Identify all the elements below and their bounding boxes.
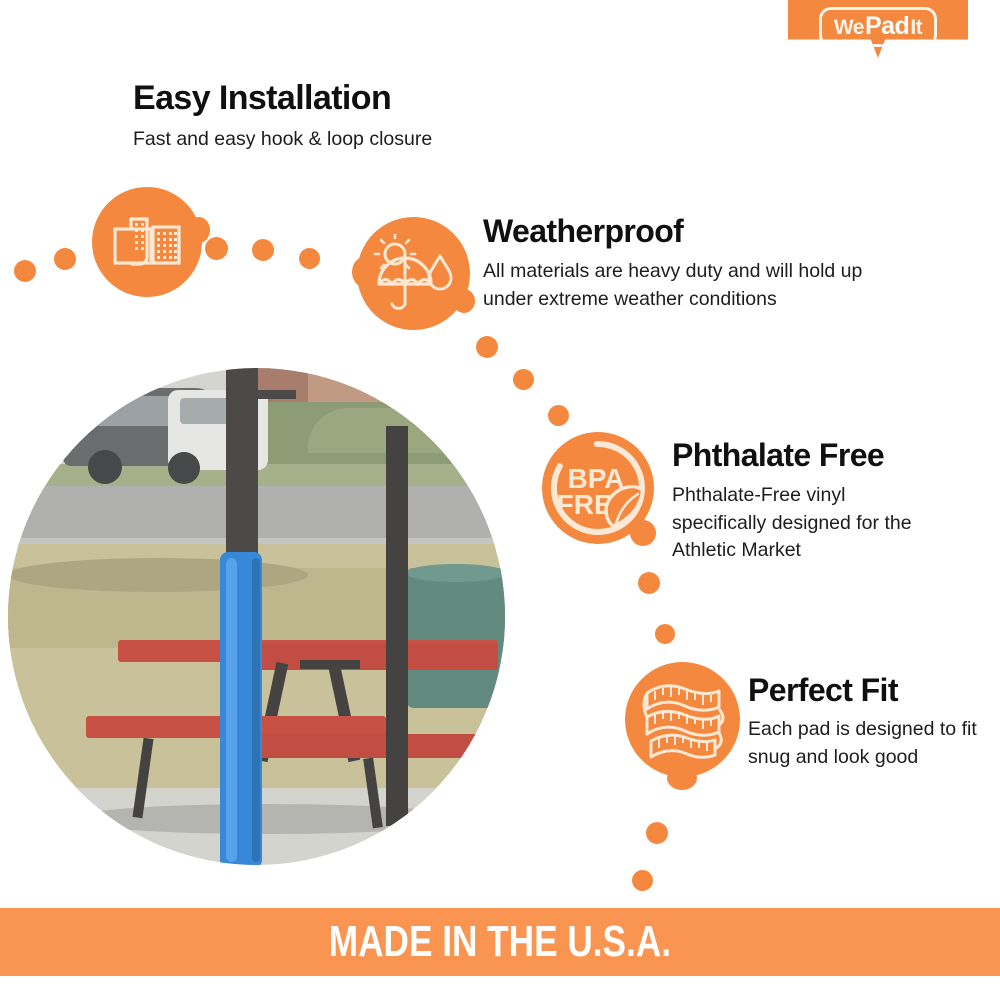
feature-icon-bubble-perfect-fit [625, 662, 740, 777]
bubble-blob [630, 520, 656, 546]
photo-overlay [8, 368, 505, 865]
made-in-usa-text: MADE IN THE U.S.A. [329, 917, 671, 967]
trail-dot [205, 237, 228, 260]
bubble-blob [667, 766, 697, 790]
feature-title-easy-installation: Easy Installation [133, 79, 391, 118]
bubble-blob [352, 257, 376, 287]
made-in-usa-banner: MADE IN THE U.S.A. [0, 908, 1000, 976]
feature-title-weatherproof: Weatherproof [483, 213, 683, 250]
feature-description-weatherproof: All materials are heavy duty and will ho… [483, 258, 903, 313]
trail-dot [476, 336, 498, 358]
trail-dot [54, 248, 76, 270]
feature-description-phthalate-free: Phthalate-Free vinyl specifically design… [672, 482, 942, 565]
bubble-blob [453, 289, 475, 313]
trail-dot [632, 870, 653, 891]
feature-title-phthalate-free: Phthalate Free [672, 437, 884, 474]
product-photo [8, 368, 505, 865]
measuring-tape-icon [639, 677, 727, 763]
brand-logo: We Pad It [788, 0, 968, 58]
logo-text-we: We [834, 16, 864, 40]
logo-text-pad: Pad [865, 12, 909, 41]
logo-wordmark: We Pad It [819, 7, 937, 47]
trail-dot [299, 248, 320, 269]
feature-title-perfect-fit: Perfect Fit [748, 672, 898, 709]
trail-dot [655, 624, 675, 644]
sun-umbrella-raindrop-icon [373, 234, 455, 314]
trail-dot [513, 369, 534, 390]
bubble-blob [188, 217, 210, 243]
hook-and-loop-icon [113, 213, 181, 271]
feature-icon-bubble-phthalate-free: BPA FREE [542, 432, 654, 544]
trail-dot [646, 822, 668, 844]
trail-dot [548, 405, 569, 426]
infographic-page: We Pad It Easy Installation Fast and eas… [0, 0, 1000, 987]
feature-icon-bubble-weatherproof [357, 217, 470, 330]
logo-text-it: It [910, 16, 922, 40]
trail-dot [252, 239, 274, 261]
feature-description-perfect-fit: Each pad is designed to fit snug and loo… [748, 716, 978, 771]
trail-dot [638, 572, 660, 594]
trail-dot [14, 260, 36, 282]
feature-icon-bubble-easy-installation [92, 187, 202, 297]
feature-description-easy-installation: Fast and easy hook & loop closure [133, 126, 553, 154]
